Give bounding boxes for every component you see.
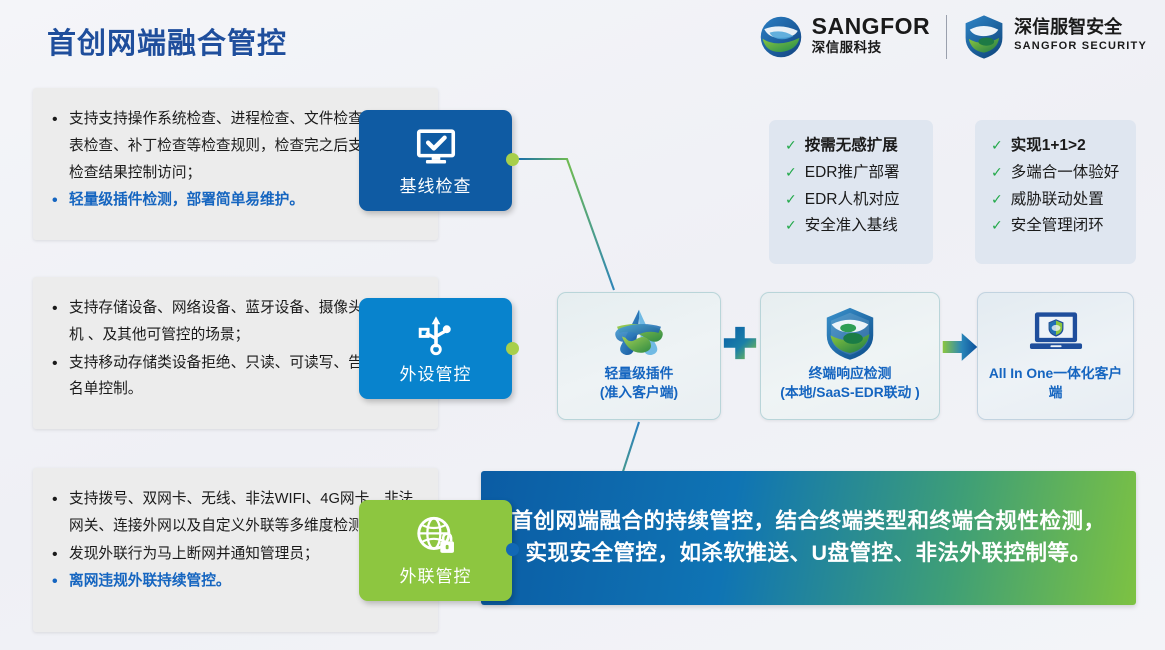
all-in-one-client-box[interactable]: All In One一体化客户 端: [977, 292, 1134, 420]
globe-lock-icon: [413, 514, 459, 560]
arrow-operator-icon: [941, 330, 979, 364]
laptop-shield-icon: [1025, 306, 1087, 361]
flow-box-label: All In One一体化客户 端: [989, 365, 1122, 402]
connector-dot-baseline: [506, 153, 519, 166]
lightweight-plugin-box[interactable]: 轻量级插件 (准入客户端): [557, 292, 721, 420]
connector-dot-external: [506, 543, 519, 556]
flow-box-subtitle: 端: [989, 384, 1122, 403]
plus-operator-icon: [721, 324, 759, 362]
pill-peripheral-control[interactable]: 外设管控: [359, 298, 512, 399]
pill-label: 基线检查: [400, 172, 472, 197]
pill-label: 外联管控: [400, 562, 472, 587]
flow-box-label: 终端响应检测 (本地/SaaS-EDR联动 ): [780, 365, 920, 402]
pill-external-link-control[interactable]: 外联管控: [359, 500, 512, 601]
flow-box-label: 轻量级插件 (准入客户端): [600, 365, 678, 402]
edr-detection-box[interactable]: 终端响应检测 (本地/SaaS-EDR联动 ): [760, 292, 940, 420]
summary-banner-text: 首创网端融合的持续管控，结合终端类型和终端合规性检测，实现安全管控，如杀软推送、…: [481, 506, 1136, 570]
connector-dot-peripheral: [506, 342, 519, 355]
flow-box-subtitle: (准入客户端): [600, 384, 678, 403]
pill-baseline-check[interactable]: 基线检查: [359, 110, 512, 211]
usb-icon: [413, 312, 459, 358]
sangfor-shield-icon: [819, 306, 881, 361]
monitor-check-icon: [413, 124, 459, 170]
pill-label: 外设管控: [400, 360, 472, 385]
flow-box-title: 终端响应检测: [809, 366, 892, 381]
flow-box-subtitle: (本地/SaaS-EDR联动 ): [780, 384, 920, 403]
slide-canvas: 首创网端融合管控 SANGFOR 深信服科: [0, 0, 1165, 650]
flow-box-title: All In One一体化客户: [989, 366, 1122, 381]
flow-box-title: 轻量级插件: [605, 366, 674, 381]
sangfor-swirl-icon: [608, 306, 670, 361]
summary-banner: 首创网端融合的持续管控，结合终端类型和终端合规性检测，实现安全管控，如杀软推送、…: [481, 471, 1136, 605]
